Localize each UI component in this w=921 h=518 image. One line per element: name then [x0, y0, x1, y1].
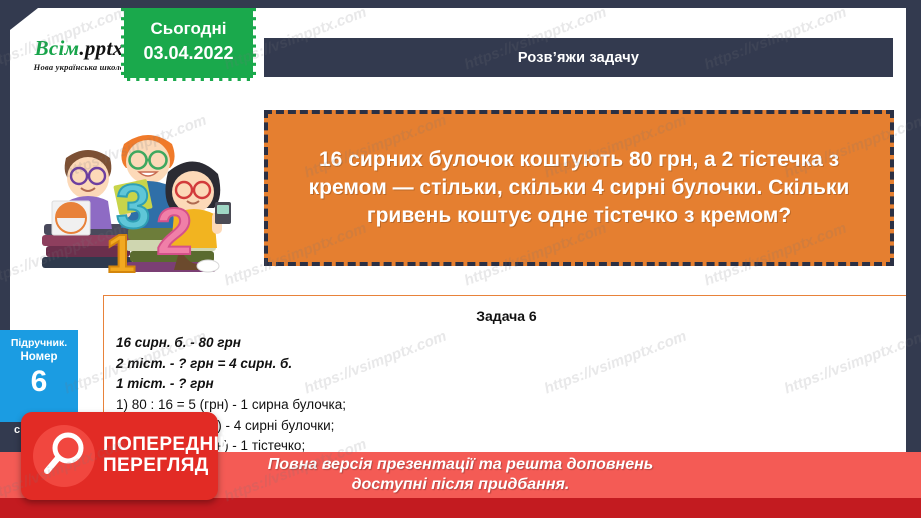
textbook-number-box: Підручник. Номер 6 [0, 330, 78, 422]
task-statement-text: 16 сирних булочок коштують 80 грн, а 2 т… [282, 146, 876, 230]
solution-line: 16 сирн. б. - 80 грн [116, 333, 906, 354]
textbook-label-line1: Підручник. [0, 337, 78, 350]
date-label: Сьогодні [151, 18, 227, 41]
illustration-number-1: 1 [106, 224, 136, 276]
solution-line: 1) 80 : 16 = 5 (грн) - 1 сирна булочка; [116, 395, 906, 416]
today-date-badge: Сьогодні 03.04.2022 [121, 8, 256, 81]
solution-line: 1 тіст. - ? грн [116, 374, 906, 395]
logo-tagline: Нова українська школа [34, 62, 125, 72]
illustration-svg: 3 2 1 [16, 106, 256, 276]
preview-badge-line2: ПЕРЕГЛЯД [103, 456, 233, 477]
solution-line: 2 тіст. - ? грн = 4 сирн. б. [116, 354, 906, 375]
logo-word-green: Всім [35, 36, 80, 60]
magnifier-icon [33, 425, 95, 487]
slide-title-bar: Розв’яжи задачу [264, 38, 893, 77]
three-children-on-books-illustration: 3 2 1 [16, 106, 256, 276]
preview-badge-line1: ПОПЕРЕДНІЙ [103, 435, 233, 456]
magnifier-icon-svg [33, 425, 95, 487]
illustration-number-2: 2 [156, 194, 193, 268]
banner-line1: Повна версія презентації та решта доповн… [268, 455, 654, 475]
page-title: Розв’яжи задачу [518, 50, 639, 66]
solution-title: Задача 6 [104, 308, 906, 324]
banner-line2: доступні після придбання. [352, 475, 570, 495]
task-statement-box: 16 сирних булочок коштують 80 грн, а 2 т… [264, 110, 894, 266]
solution-line: 2) 5 · 4 = 20 (грн) - 4 сирні булочки; [116, 416, 906, 437]
bottom-red-strip [0, 498, 921, 518]
preview-badge: ПОПЕРЕДНІЙ ПЕРЕГЛЯД [21, 412, 218, 500]
preview-badge-text: ПОПЕРЕДНІЙ ПЕРЕГЛЯД [103, 435, 233, 476]
textbook-number-value: 6 [0, 366, 78, 398]
textbook-label-line2: Номер [0, 350, 78, 365]
pie-chart-card [52, 201, 90, 235]
date-value: 03.04.2022 [143, 41, 233, 65]
logo-wordmark: Всім.pptx [35, 38, 124, 59]
logo-word-black: .pptx [79, 36, 123, 60]
